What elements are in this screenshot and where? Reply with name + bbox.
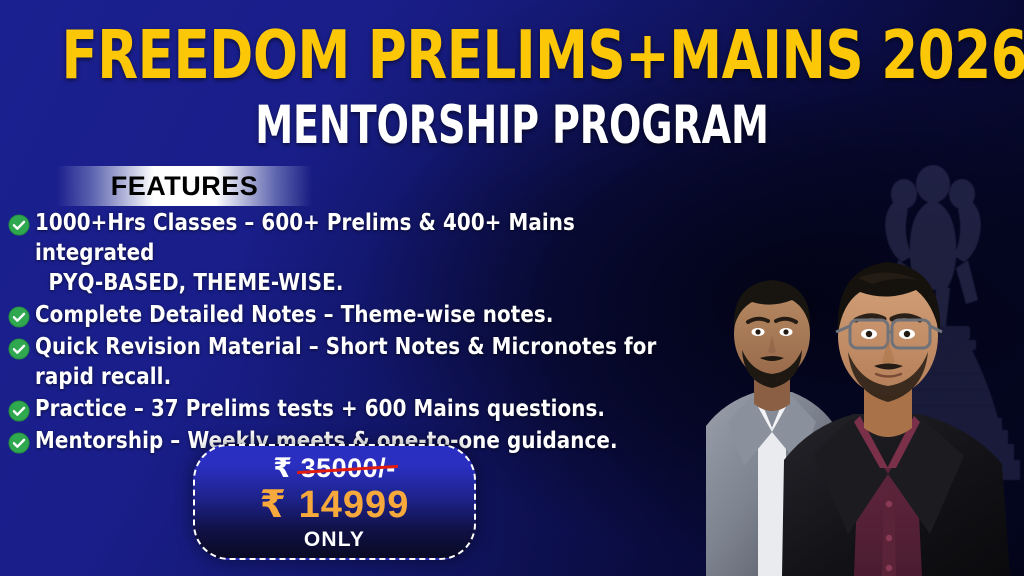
title-block: FREEDOM PRELIMS+MAINS 2026 MENTORSHIP PR… [0,0,1024,152]
feature-list: 1000+Hrs Classes – 600+ Prelims & 400+ M… [8,208,728,458]
check-circle-icon [8,400,30,422]
rupee-symbol: ₹ [273,453,292,483]
feature-line-1: Quick Revision Material – Short Notes & … [35,334,656,390]
only-label: ONLY [304,528,365,552]
check-circle-icon [8,338,30,360]
price-box[interactable]: ₹ 35000/- ₹ 14999 ONLY [193,444,476,560]
feature-text: Quick Revision Material – Short Notes & … [35,332,700,392]
check-circle-icon [8,432,30,454]
feature-text: Complete Detailed Notes – Theme-wise not… [35,300,553,330]
list-item: Complete Detailed Notes – Theme-wise not… [8,300,728,330]
features-badge-label: FEATURES [111,171,259,202]
features-badge: FEATURES [57,166,312,206]
feature-text: 1000+Hrs Classes – 600+ Prelims & 400+ M… [35,208,700,298]
feature-line-1: Complete Detailed Notes – Theme-wise not… [35,302,553,328]
mentor-photos [672,216,1024,576]
feature-text: Practice – 37 Prelims tests + 600 Mains … [35,394,605,424]
original-price-amount: 35000/- [301,453,396,483]
feature-line-2: PYQ-BASED, THEME-WISE. [35,268,700,298]
original-price: ₹ 35000/- [273,453,395,483]
promo-banner: FREEDOM PRELIMS+MAINS 2026 MENTORSHIP PR… [0,0,1024,576]
feature-line-1: 1000+Hrs Classes – 600+ Prelims & 400+ M… [35,210,575,266]
feature-line-1: Practice – 37 Prelims tests + 600 Mains … [35,396,605,422]
list-item: 1000+Hrs Classes – 600+ Prelims & 400+ M… [8,208,728,298]
page-subtitle: MENTORSHIP PROGRAM [102,99,921,152]
list-item: Quick Revision Material – Short Notes & … [8,332,728,392]
discounted-price: ₹ 14999 [260,484,410,526]
check-circle-icon [8,214,30,236]
list-item: Practice – 37 Prelims tests + 600 Mains … [8,394,728,424]
check-circle-icon [8,306,30,328]
page-title: FREEDOM PRELIMS+MAINS 2026 [61,22,962,89]
